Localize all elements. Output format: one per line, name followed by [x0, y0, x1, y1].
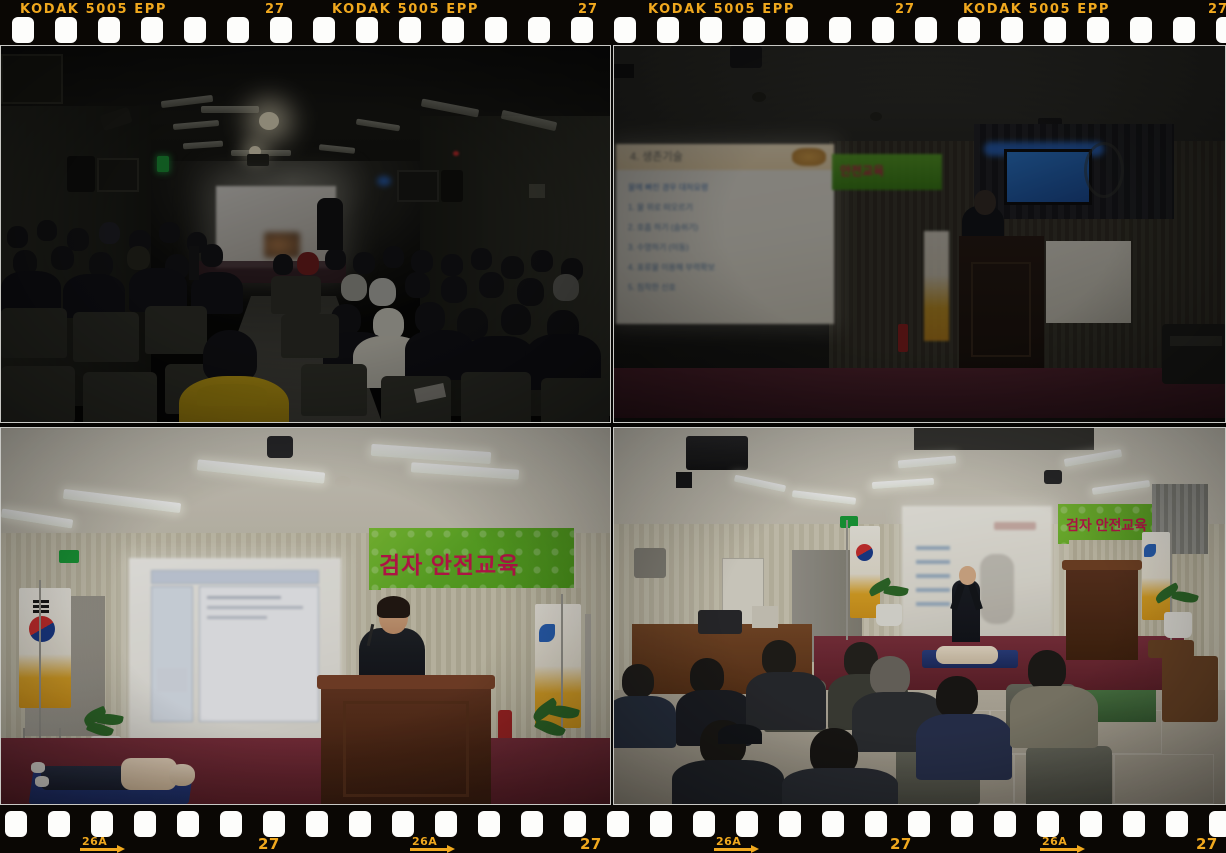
sprocket-hole [786, 17, 808, 43]
projected-text-line [916, 588, 950, 592]
wall-monitor [1004, 149, 1092, 205]
film-direction-arrow-3 [714, 848, 752, 851]
slide-bullet-1: 1. 물 위로 떠오르기 [628, 202, 693, 213]
projection-screen [129, 558, 341, 763]
instructor-hair [377, 596, 410, 618]
sprocket-hole [263, 811, 285, 837]
film-frame-number-3: 27 [895, 2, 915, 17]
podium [321, 675, 491, 805]
film-brand-text-2: KODAK 5005 EPP [332, 2, 479, 17]
sprocket-hole [392, 811, 414, 837]
sprocket-hole [994, 811, 1016, 837]
projected-window-titlebar [151, 570, 319, 584]
sprocket-hole [528, 17, 550, 43]
sprocket-hole [435, 811, 457, 837]
podium-panel [343, 701, 469, 797]
film-frame-number-2: 27 [578, 2, 598, 17]
presenter-head [974, 190, 996, 215]
photo-bottom-right[interactable]: 검자 안전교육 [613, 427, 1226, 805]
sprocket-hole [1087, 17, 1109, 43]
fire-extinguisher [898, 324, 908, 352]
equipment-bag [698, 610, 742, 634]
projected-text-line [207, 606, 303, 609]
sprocket-hole [650, 811, 672, 837]
ceiling [1, 428, 610, 538]
projected-heading [994, 522, 1036, 530]
projected-text-line [916, 574, 950, 578]
slide-decoration-icon [792, 148, 826, 166]
ceiling-spot-lamp [259, 112, 279, 130]
taegeuk-symbol [29, 616, 55, 642]
wall-banner: 검자 안전교육 [369, 528, 574, 590]
sprocket-hole [743, 17, 765, 43]
slide-bullet-2: 2. 호흡 하기 (숨쉬기) [628, 222, 698, 233]
sprocket-hole [399, 17, 421, 43]
ceiling-light [201, 106, 259, 113]
ceiling-vent [914, 428, 1094, 450]
slide-header-band: 4. 생존기술 [616, 144, 834, 170]
ceiling-sensor [752, 92, 766, 102]
sprocket-hole [48, 811, 70, 837]
film-brand-text-4: KODAK 5005 EPP [963, 2, 1110, 17]
ceiling-spot [1044, 470, 1062, 484]
potted-plant-left [864, 582, 916, 630]
podium [1066, 564, 1138, 660]
ceiling-sensor [187, 486, 203, 498]
chair-foreground [179, 422, 299, 423]
exit-sign-icon [59, 550, 79, 563]
sprocket-hole [442, 17, 464, 43]
paper-box [752, 606, 778, 628]
slide-bullet-4: 4. 표류물 이용해 부력확보 [628, 262, 715, 273]
side-table [1170, 336, 1222, 346]
podium-top [1062, 560, 1142, 570]
scene-cpr-demonstration-audience: 검자 안전교육 [614, 428, 1225, 804]
wall-monitor-left-2 [97, 158, 139, 192]
sprocket-hole [349, 811, 371, 837]
ceiling-projector [686, 436, 748, 470]
sprocket-hole [478, 811, 500, 837]
sprocket-hole [779, 811, 801, 837]
sprocket-hole [571, 17, 593, 43]
whiteboard [1046, 241, 1131, 323]
sprocket-hole [700, 17, 722, 43]
ceiling-projector-2 [247, 154, 269, 166]
south-korean-flag [19, 588, 71, 728]
photo-top-right[interactable]: 4. 생존기술 물에 빠진 경우 대처요령 1. 물 위로 떠오르기 2. 호흡… [613, 45, 1226, 423]
photo-top-left[interactable] [0, 45, 611, 423]
sprocket-hole [1001, 17, 1023, 43]
sprocket-hole [865, 811, 887, 837]
sprocket-hole [1166, 811, 1188, 837]
exit-sign-icon [157, 156, 169, 172]
organization-flag-emblem [1144, 544, 1156, 557]
film-frame-number-b4: 27 [1196, 835, 1218, 853]
sprocket-hole [227, 17, 249, 43]
film-brand-text-3: KODAK 5005 EPP [648, 2, 795, 17]
scene-cpr-instruction-podium: 검자 안전교육 [1, 428, 610, 804]
sprocket-hole [220, 811, 242, 837]
film-strip-contact-sheet: KODAK 5005 EPP 27 KODAK 5005 EPP 27 KODA… [0, 0, 1226, 853]
projector-mount [676, 472, 692, 488]
film-frame-number-b1: 27 [258, 835, 280, 853]
sprocket-hole [485, 17, 507, 43]
sprocket-hole [12, 17, 34, 43]
red-indicator-light [453, 151, 459, 156]
wooden-chair [1162, 656, 1218, 722]
sprocket-hole [1080, 811, 1102, 837]
sprocket-hole [693, 811, 715, 837]
film-edge-bottom: 26A 27 26A 27 26A 27 26A 27 [0, 805, 1226, 853]
sprocket-hole [177, 811, 199, 837]
ceiling-projector [730, 46, 762, 68]
projected-shadow [980, 554, 1014, 624]
side-furniture [1162, 324, 1226, 384]
wall-decoration [1084, 142, 1124, 198]
sprocket-hole [1209, 811, 1226, 837]
sprocket-hole [313, 17, 335, 43]
sprocket-hole [5, 811, 27, 837]
sprocket-hole [134, 811, 156, 837]
sprocket-hole [958, 17, 980, 43]
flag-pole [846, 520, 848, 640]
instructor-head [959, 566, 976, 585]
ceiling-sensor [870, 112, 882, 121]
cap-hat [718, 724, 762, 744]
sprocket-hole [1037, 811, 1059, 837]
sprocket-hole [1123, 811, 1145, 837]
film-direction-arrow-1 [80, 848, 118, 851]
sprocket-hole [184, 17, 206, 43]
slide-bullet-0: 물에 빠진 경우 대처요령 [628, 182, 708, 193]
manikin-head [169, 764, 195, 786]
podium-top [317, 675, 495, 689]
sprocket-hole [822, 811, 844, 837]
projected-text-line [916, 546, 950, 550]
sprocket-hole [614, 17, 636, 43]
projected-thumbnail [157, 668, 187, 692]
stage-platform [614, 368, 1225, 423]
projection-screen: 4. 생존기술 물에 빠진 경우 대처요령 1. 물 위로 떠오르기 2. 호흡… [616, 144, 834, 324]
sprocket-hole [564, 811, 586, 837]
slide-title: 4. 생존기술 [630, 148, 683, 164]
sprocket-hole [521, 811, 543, 837]
sprocket-hole-row-bottom [0, 811, 1226, 837]
potted-plant-right [1150, 588, 1206, 640]
scene-lecture-hall-audience [1, 46, 610, 422]
film-frame-number-4: 27 [1208, 2, 1226, 17]
wall-banner: 안전교육 [832, 154, 942, 190]
cpr-manikin [936, 646, 998, 664]
photo-bottom-left[interactable]: 검자 안전교육 [0, 427, 611, 805]
sprocket-hole [1130, 17, 1152, 43]
photo-grid: 4. 생존기술 물에 빠진 경우 대처요령 1. 물 위로 떠오르기 2. 호흡… [0, 45, 1226, 805]
sprocket-hole [607, 811, 629, 837]
film-direction-arrow-2 [410, 848, 448, 851]
sprocket-hole [270, 17, 292, 43]
wall-monitor-right [397, 170, 439, 202]
sprocket-hole [908, 811, 930, 837]
sprocket-hole [91, 811, 113, 837]
floor [614, 418, 1225, 423]
banner-text: 안전교육 [840, 162, 884, 179]
ceiling-sensor [335, 476, 351, 488]
manikin-foot [31, 762, 45, 773]
projected-text-line [207, 596, 281, 599]
sprocket-hole-row-top [0, 17, 1226, 43]
sprocket-hole [356, 17, 378, 43]
blue-indicator-light [377, 176, 391, 186]
sprocket-hole [736, 811, 758, 837]
projected-text-line [916, 560, 950, 564]
slide-bullet-3: 3. 수영하기 (이동) [628, 242, 689, 253]
wall-speaker-right [441, 170, 463, 202]
sprocket-hole [1173, 17, 1195, 43]
organization-flag-emblem [539, 624, 555, 642]
sprocket-hole [829, 17, 851, 43]
wall-speaker-left [67, 156, 95, 192]
standing-person-silhouette [189, 246, 199, 280]
wooden-chair-back [1148, 640, 1194, 658]
film-frame-number-1: 27 [265, 2, 285, 17]
sprocket-hole [306, 811, 328, 837]
film-direction-arrow-4 [1040, 848, 1078, 851]
ceiling-speaker [614, 64, 634, 78]
film-brand-text-1: KODAK 5005 EPP [20, 2, 167, 17]
sprocket-hole [915, 17, 937, 43]
sprocket-hole [657, 17, 679, 43]
podium-panel [971, 262, 1031, 357]
podium [959, 236, 1044, 371]
film-frame-number-b3: 27 [890, 835, 912, 853]
film-frame-number-b2: 27 [580, 835, 602, 853]
flag [924, 231, 949, 341]
sprocket-hole [55, 17, 77, 43]
wall-speaker [634, 548, 666, 578]
projected-sidebar-pane [151, 586, 193, 722]
sprocket-hole [951, 811, 973, 837]
sprocket-hole [98, 17, 120, 43]
sprocket-hole [1044, 17, 1066, 43]
sprocket-hole [141, 17, 163, 43]
sprocket-hole [1216, 17, 1226, 43]
film-edge-top: KODAK 5005 EPP 27 KODAK 5005 EPP 27 KODA… [0, 0, 1226, 45]
taegeuk-symbol [856, 544, 873, 561]
standing-presenter-silhouette [317, 198, 343, 250]
scene-podium-presentation: 4. 생존기술 물에 빠진 경우 대처요령 1. 물 위로 떠오르기 2. 호흡… [614, 46, 1225, 422]
banner-text: 검자 안전교육 [379, 546, 519, 580]
wall-sign [529, 184, 545, 198]
projected-text-line [207, 616, 267, 619]
projected-text-line [916, 602, 950, 606]
ceiling-projector [267, 436, 293, 458]
manikin-foot [35, 776, 49, 787]
wall-monitor-left [1, 54, 63, 104]
sprocket-hole [872, 17, 894, 43]
slide-bullet-5: 5. 침착한 신호 [628, 282, 676, 293]
banner-text: 검자 안전교육 [1066, 515, 1147, 535]
